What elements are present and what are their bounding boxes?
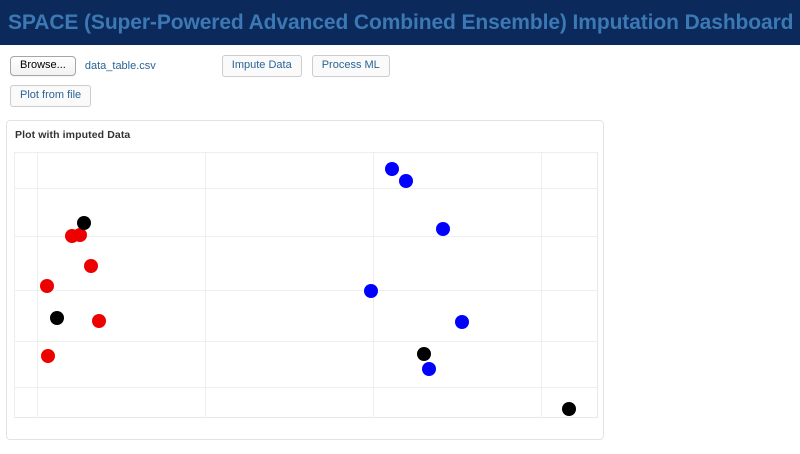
data-point-blue[interactable]: [422, 362, 436, 376]
app-header: SPACE (Super-Powered Advanced Combined E…: [0, 0, 800, 45]
scatter-plot[interactable]: [14, 152, 598, 418]
data-point-red[interactable]: [84, 259, 98, 273]
browse-button[interactable]: Browse...: [10, 56, 76, 76]
data-point-red[interactable]: [40, 279, 54, 293]
data-point-blue[interactable]: [385, 162, 399, 176]
plot-background: [15, 153, 598, 418]
data-point-blue[interactable]: [399, 174, 413, 188]
plot-title: Plot with imputed Data: [15, 129, 130, 141]
page-title: SPACE (Super-Powered Advanced Combined E…: [8, 12, 793, 33]
data-point-red[interactable]: [41, 349, 55, 363]
toolbar-row-secondary: Plot from file: [0, 85, 800, 107]
data-point-blue[interactable]: [436, 222, 450, 236]
toolbar-row-primary: Browse... data_table.csv Impute Data Pro…: [0, 55, 800, 77]
data-point-black[interactable]: [562, 402, 576, 416]
plot-panel: Plot with imputed Data: [6, 120, 604, 440]
impute-data-button[interactable]: Impute Data: [222, 55, 302, 77]
data-point-red[interactable]: [92, 314, 106, 328]
process-ml-button[interactable]: Process ML: [312, 55, 390, 77]
data-point-black[interactable]: [50, 311, 64, 325]
selected-file-name: data_table.csv: [85, 60, 156, 72]
data-point-blue[interactable]: [364, 284, 378, 298]
data-point-black[interactable]: [417, 347, 431, 361]
data-point-black[interactable]: [77, 216, 91, 230]
scatter-plot-canvas: [14, 152, 598, 418]
data-point-blue[interactable]: [455, 315, 469, 329]
plot-from-file-button[interactable]: Plot from file: [10, 85, 91, 107]
toolbar: Browse... data_table.csv Impute Data Pro…: [0, 45, 800, 107]
data-point-red[interactable]: [73, 228, 87, 242]
